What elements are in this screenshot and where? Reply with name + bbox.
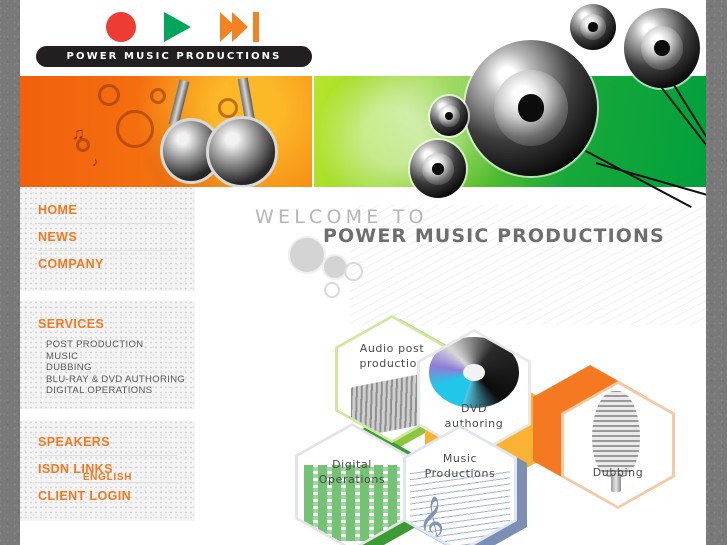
microphone-icon: [592, 391, 640, 476]
sidebar-item-services[interactable]: SERVICES: [20, 311, 195, 337]
services-submenu: POST PRODUCTION MUSIC DUBBING BLU-RAY & …: [20, 337, 195, 397]
sidebar-item-client-login[interactable]: CLIENT LOGIN: [20, 483, 195, 509]
record-circle-icon: [106, 12, 136, 42]
page-content-panel: POWER MUSIC PRODUCTIONS ♫ ♪: [20, 0, 706, 545]
sidebar-navigation: HOME NEWS COMPANY SERVICES POST PRODUCTI…: [20, 187, 195, 521]
sidebar-item-news[interactable]: NEWS: [20, 224, 195, 250]
welcome-heading: WELCOME TO POWER MUSIC PRODUCTIONS: [255, 206, 665, 247]
nav-group-primary: HOME NEWS COMPANY: [20, 187, 195, 291]
logo-wordmark: POWER MUSIC PRODUCTIONS: [36, 46, 312, 67]
sidebar-item-home[interactable]: HOME: [20, 197, 195, 223]
dvd-disc-icon: [429, 337, 520, 408]
play-triangle-icon: [164, 12, 191, 42]
logo-text: POWER MUSIC PRODUCTIONS: [67, 51, 282, 62]
submenu-item-bluray-dvd-authoring[interactable]: BLU-RAY & DVD AUTHORING: [46, 374, 195, 386]
submenu-item-music[interactable]: MUSIC: [46, 351, 195, 363]
headphones-image: [156, 78, 306, 187]
banner-orange-headphones: ♫ ♪: [20, 76, 312, 187]
submenu-item-digital-operations[interactable]: DIGITAL OPERATIONS: [46, 385, 195, 397]
services-hexagon-cluster: Audio post production DVD authoring Dubb…: [285, 315, 685, 545]
page-title: POWER MUSIC PRODUCTIONS: [323, 225, 665, 247]
submenu-item-dubbing[interactable]: DUBBING: [46, 362, 195, 374]
header-banner: ♫ ♪: [20, 76, 706, 187]
equalizer-icon: [304, 465, 399, 541]
submenu-item-post-production[interactable]: POST PRODUCTION: [46, 339, 195, 351]
site-logo[interactable]: POWER MUSIC PRODUCTIONS: [36, 6, 316, 66]
banner-green-speakers: [314, 76, 706, 187]
nav-group-services: SERVICES POST PRODUCTION MUSIC DUBBING B…: [20, 301, 195, 409]
nav-group-secondary: SPEAKERS ISDN LINKS CLIENT LOGIN: [20, 421, 195, 521]
sidebar-item-speakers[interactable]: SPEAKERS: [20, 429, 195, 455]
language-link-english[interactable]: ENGLISH: [20, 472, 195, 483]
sidebar-item-company[interactable]: COMPANY: [20, 251, 195, 277]
next-track-icon: [220, 12, 262, 42]
